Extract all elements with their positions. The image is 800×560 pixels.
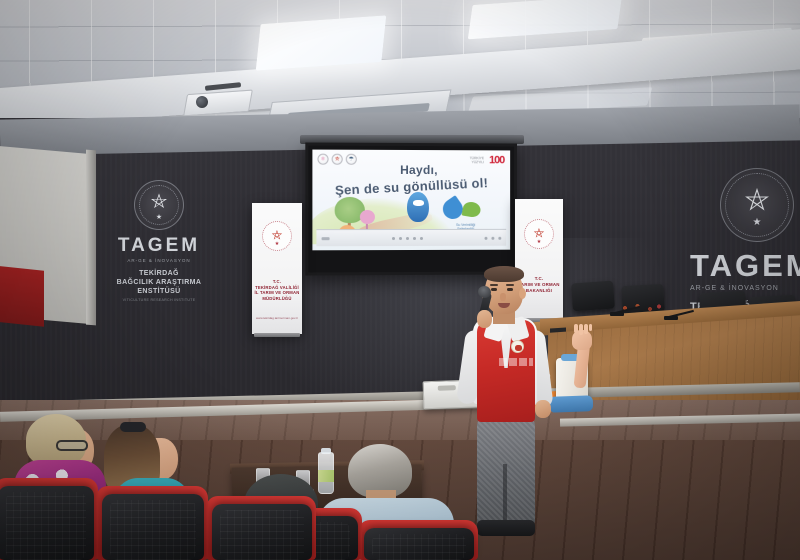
presenter-vest-text — [499, 358, 533, 366]
wall-logo-tagem-left: ⛤ ★ TAGEM AR-GE & İNOVASYON TEKİRDAĞ BAĞ… — [94, 180, 224, 302]
slide-title: Haydı, Şen de su gönüllüsü ol! — [312, 163, 510, 194]
eyeglasses-icon — [56, 440, 88, 451]
projector-lens-icon — [196, 96, 208, 108]
crescent-bird-icon: ⛤ — [534, 226, 544, 239]
toolbar-dot-icon[interactable] — [413, 236, 416, 239]
presenter-eye — [491, 288, 497, 291]
presenter-shoes — [477, 520, 535, 536]
toolbar-dot-icon[interactable] — [420, 236, 423, 239]
star-icon: ★ — [156, 214, 162, 221]
audience-chair — [212, 504, 312, 560]
leaf-icon — [462, 201, 482, 219]
toolbar-dot-icon[interactable] — [491, 236, 494, 239]
tagem-subtitle: AR-GE & İNOVASYON — [690, 285, 800, 292]
banner-left-url: www.tekirdag.tarimorman.gov.tr — [256, 316, 298, 320]
presentation-slide: ⚛ ⛤ ☂ TÜRKİYE YÜZYILI 100 Haydı, Şen de … — [312, 150, 510, 251]
chair-mesh — [6, 492, 86, 560]
presenter-left-hand — [477, 310, 492, 328]
conference-hall-photo: ⛤ ★ TAGEM AR-GE & İNOVASYON TEKİRDAĞ BAĞ… — [0, 0, 800, 560]
panel-chair — [571, 281, 615, 312]
presenter-eyebrow — [490, 284, 498, 286]
institution-badge-icon — [511, 340, 524, 353]
red-wall-board — [0, 265, 44, 326]
finger — [579, 324, 583, 335]
projector-screen: ⚛ ⛤ ☂ TÜRKİYE YÜZYILI 100 Haydı, Şen de … — [305, 142, 517, 275]
tagem-institute-english: VITICULTURE RESEARCH INSTITUTE — [94, 298, 224, 302]
banner-left-text: T.C. TEKİRDAĞ VALİLİĞİ İL TARIM VE ORMAN… — [255, 279, 300, 302]
ministry-crescent-seal-icon: ⛤ ★ — [524, 219, 554, 249]
presenter-figure — [455, 268, 559, 560]
turkish-state-emblem-icon: ⛤ ★ — [720, 168, 794, 242]
crescent-bird-icon: ⛤ — [151, 192, 167, 212]
star-icon: ★ — [275, 242, 279, 247]
ministry-crescent-seal-icon: ⛤ ★ — [262, 221, 292, 251]
turkish-state-emblem-icon: ⛤ ★ — [134, 180, 184, 230]
chair-mesh — [220, 510, 304, 560]
crescent-bird-icon: ⛤ — [272, 228, 282, 241]
finger — [589, 324, 593, 331]
tagem-wordmark: TAGEM — [690, 248, 800, 284]
toolbar-dot-icon[interactable] — [406, 237, 409, 240]
finger — [584, 324, 588, 334]
chair-mesh — [110, 500, 196, 560]
toolbar-dot-icon[interactable] — [485, 236, 488, 239]
presenter-nose — [500, 293, 506, 301]
tagem-wordmark: TAGEM — [94, 235, 224, 257]
audience-chair — [102, 494, 204, 560]
star-icon: ★ — [537, 240, 541, 245]
presenter-trouser-seam — [503, 464, 507, 526]
toolbar-dot-icon[interactable] — [399, 237, 402, 240]
campaign-droplet-leaf-logo — [443, 198, 481, 220]
ceiling-light-panel — [256, 15, 387, 70]
audience-chair — [0, 486, 94, 560]
rollup-banner-left: ⛤ ★ T.C. TEKİRDAĞ VALİLİĞİ İL TARIM VE O… — [252, 203, 302, 334]
banner-stand-base — [254, 333, 300, 337]
finger — [574, 324, 578, 333]
toolbar-chip-icon[interactable] — [322, 237, 330, 240]
audience-chair — [364, 528, 474, 560]
presenter-hair — [484, 266, 524, 282]
tagem-institute-name: TEKİRDAĞ BAĞCILIK ARAŞTIRMA ENSTİTÜSÜ — [94, 270, 224, 296]
presenter-eye — [507, 288, 513, 291]
presenter-eyebrow — [506, 284, 514, 286]
presenter-ear — [519, 288, 526, 299]
water-drop-mascot-icon — [407, 192, 429, 222]
mannequin-hand-icon — [572, 330, 592, 350]
star-icon: ★ — [753, 218, 762, 228]
tagem-subtitle: AR-GE & İNOVASYON — [94, 258, 224, 263]
crescent-bird-icon: ⛤ — [745, 186, 769, 216]
presenter-right-hand — [535, 400, 551, 418]
toolbar-dot-icon[interactable] — [392, 237, 395, 240]
toolbar-dot-icon[interactable] — [498, 236, 501, 239]
slide-pink-tree-icon — [360, 210, 375, 224]
hair-tie-icon — [120, 422, 146, 432]
chair-mesh — [372, 534, 466, 560]
presentation-toolbar[interactable] — [316, 229, 506, 246]
